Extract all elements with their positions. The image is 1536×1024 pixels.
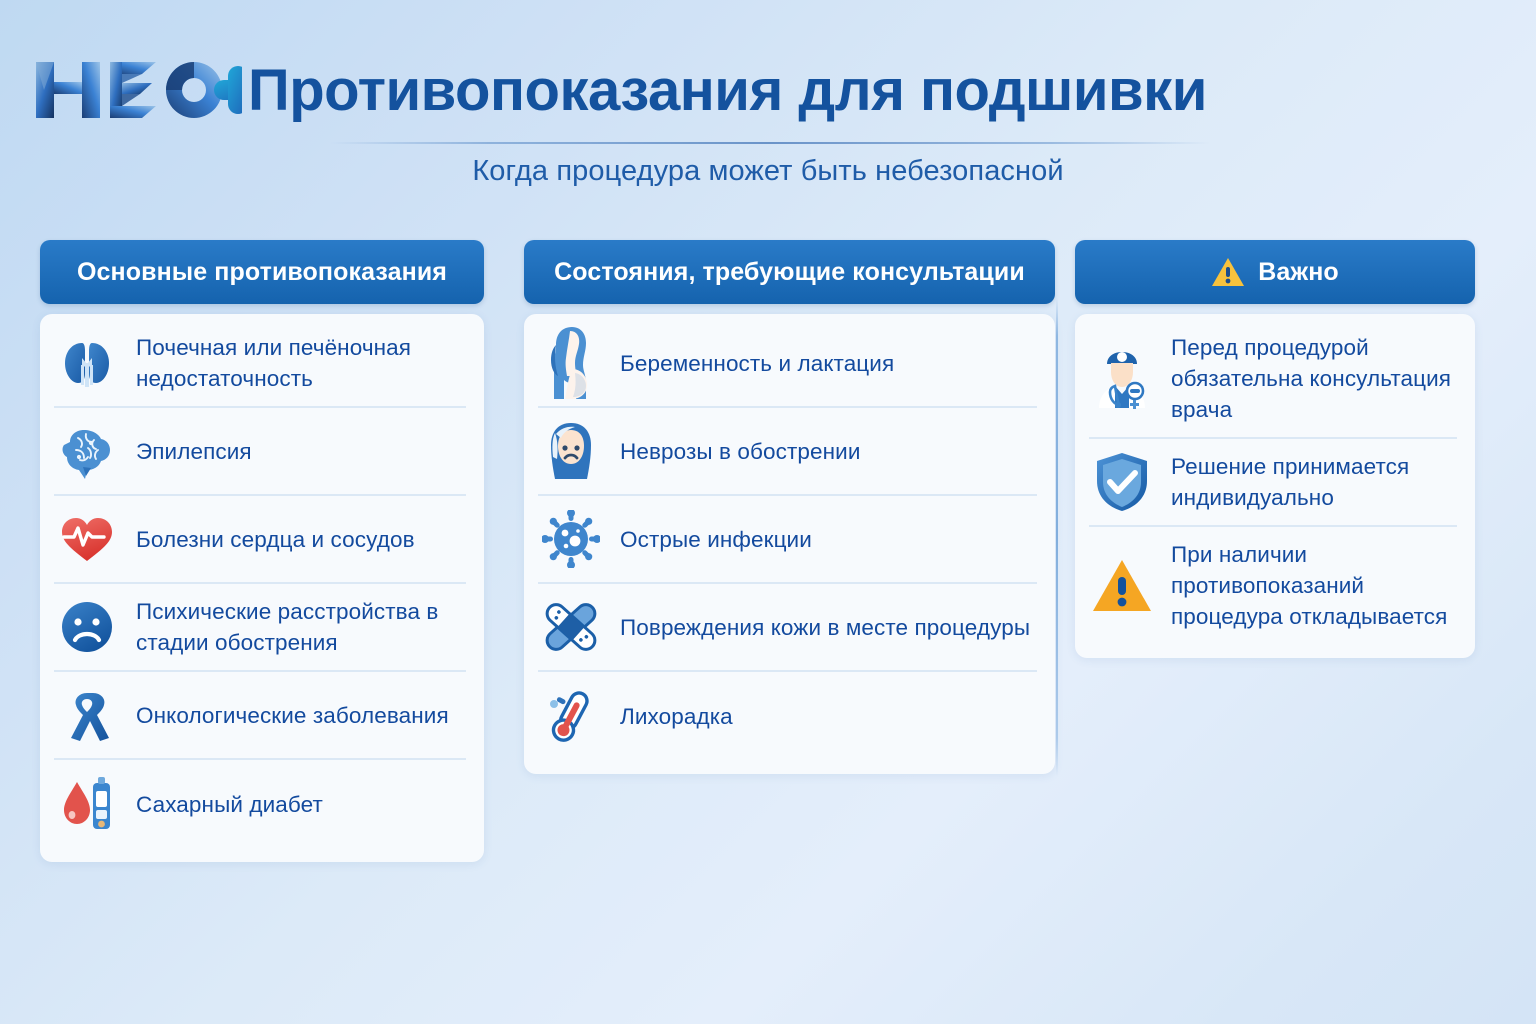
virus-icon [540, 508, 602, 570]
list-item[interactable]: Онкологические заболевания [54, 672, 466, 760]
list-item[interactable]: Психические расстройства в стадии обостр… [54, 584, 466, 672]
infographic-canvas: Противопоказания для подшивки Когда проц… [0, 0, 1536, 1024]
bandage-icon [540, 596, 602, 658]
list-item-label: Неврозы в обострении [620, 436, 861, 467]
list-item[interactable]: Беременность и лактация [538, 320, 1037, 408]
column-header: Важно [1075, 240, 1475, 304]
thermometer-icon [540, 685, 602, 747]
column-header: Состояния, требующие консультации [524, 240, 1055, 304]
list-item[interactable]: Острые инфекции [538, 496, 1037, 584]
list-item-label: При наличии противопоказаний процедура о… [1171, 539, 1455, 632]
list-item-label: Почечная или печёночная недостаточность [136, 332, 464, 394]
list-item-label: Сахарный диабет [136, 789, 323, 820]
sad-woman-icon [540, 420, 602, 482]
list-item[interactable]: При наличии противопоказаний процедура о… [1089, 527, 1457, 644]
sad-face-icon [56, 596, 118, 658]
brain-icon [56, 420, 118, 482]
column-separator [1056, 298, 1058, 776]
column-header-label: Важно [1258, 258, 1339, 287]
list-item[interactable]: Решение принимается индивидуально [1089, 439, 1457, 527]
list-item-label: Перед процедурой обязательна консультаци… [1171, 332, 1455, 425]
list-item[interactable]: Сахарный диабет [54, 760, 466, 848]
list-item-label: Психические расстройства в стадии обостр… [136, 596, 464, 658]
list-item-label: Острые инфекции [620, 524, 812, 555]
header: Противопоказания для подшивки Когда проц… [0, 0, 1536, 212]
page-subtitle: Когда процедура может быть небезопасной [0, 155, 1536, 188]
warning-triangle-icon [1091, 555, 1153, 617]
kidneys-icon [56, 332, 118, 394]
column-header-label: Основные противопоказания [77, 258, 447, 287]
list-item[interactable]: Повреждения кожи в месте процедуры [538, 584, 1037, 672]
column-conditions-requiring-consultation: Состояния, требующие консультации Береме… [524, 240, 1055, 774]
column-main-contraindications: Основные противопоказания [40, 240, 484, 862]
list-item-label: Беременность и лактация [620, 348, 894, 379]
pregnant-woman-icon [540, 332, 602, 394]
heart-pulse-icon [56, 508, 118, 570]
list-item-label: Лихорадка [620, 701, 733, 732]
column-body: Почечная или печёночная недостаточность [40, 314, 484, 862]
doctor-icon [1091, 348, 1153, 410]
column-header-label: Состояния, требующие консультации [554, 258, 1025, 287]
column-header: Основные противопоказания [40, 240, 484, 304]
blood-drop-glucometer-icon [56, 773, 118, 835]
list-item[interactable]: Неврозы в обострении [538, 408, 1037, 496]
shield-check-icon [1091, 451, 1153, 513]
neo-plus-logo [30, 52, 242, 130]
list-item[interactable]: Почечная или печёночная недостаточность [54, 320, 466, 408]
list-item-label: Эпилепсия [136, 436, 252, 467]
list-item[interactable]: Лихорадка [538, 672, 1037, 760]
list-item-label: Онкологические заболевания [136, 700, 449, 731]
list-item-label: Болезни сердца и сосудов [136, 524, 415, 555]
list-item[interactable]: Перед процедурой обязательна консультаци… [1089, 320, 1457, 439]
page-title: Противопоказания для подшивки [248, 52, 1207, 130]
column-important: Важно [1075, 240, 1475, 658]
column-body: Беременность и лактация Неврозы в обостр… [524, 314, 1055, 774]
list-item-label: Решение принимается индивидуально [1171, 451, 1455, 513]
list-item[interactable]: Болезни сердца и сосудов [54, 496, 466, 584]
list-item[interactable]: Эпилепсия [54, 408, 466, 496]
column-body: Перед процедурой обязательна консультаци… [1075, 314, 1475, 658]
awareness-ribbon-icon [56, 684, 118, 746]
title-divider [330, 142, 1210, 144]
list-item-label: Повреждения кожи в месте процедуры [620, 612, 1030, 643]
warning-triangle-icon [1211, 255, 1245, 289]
